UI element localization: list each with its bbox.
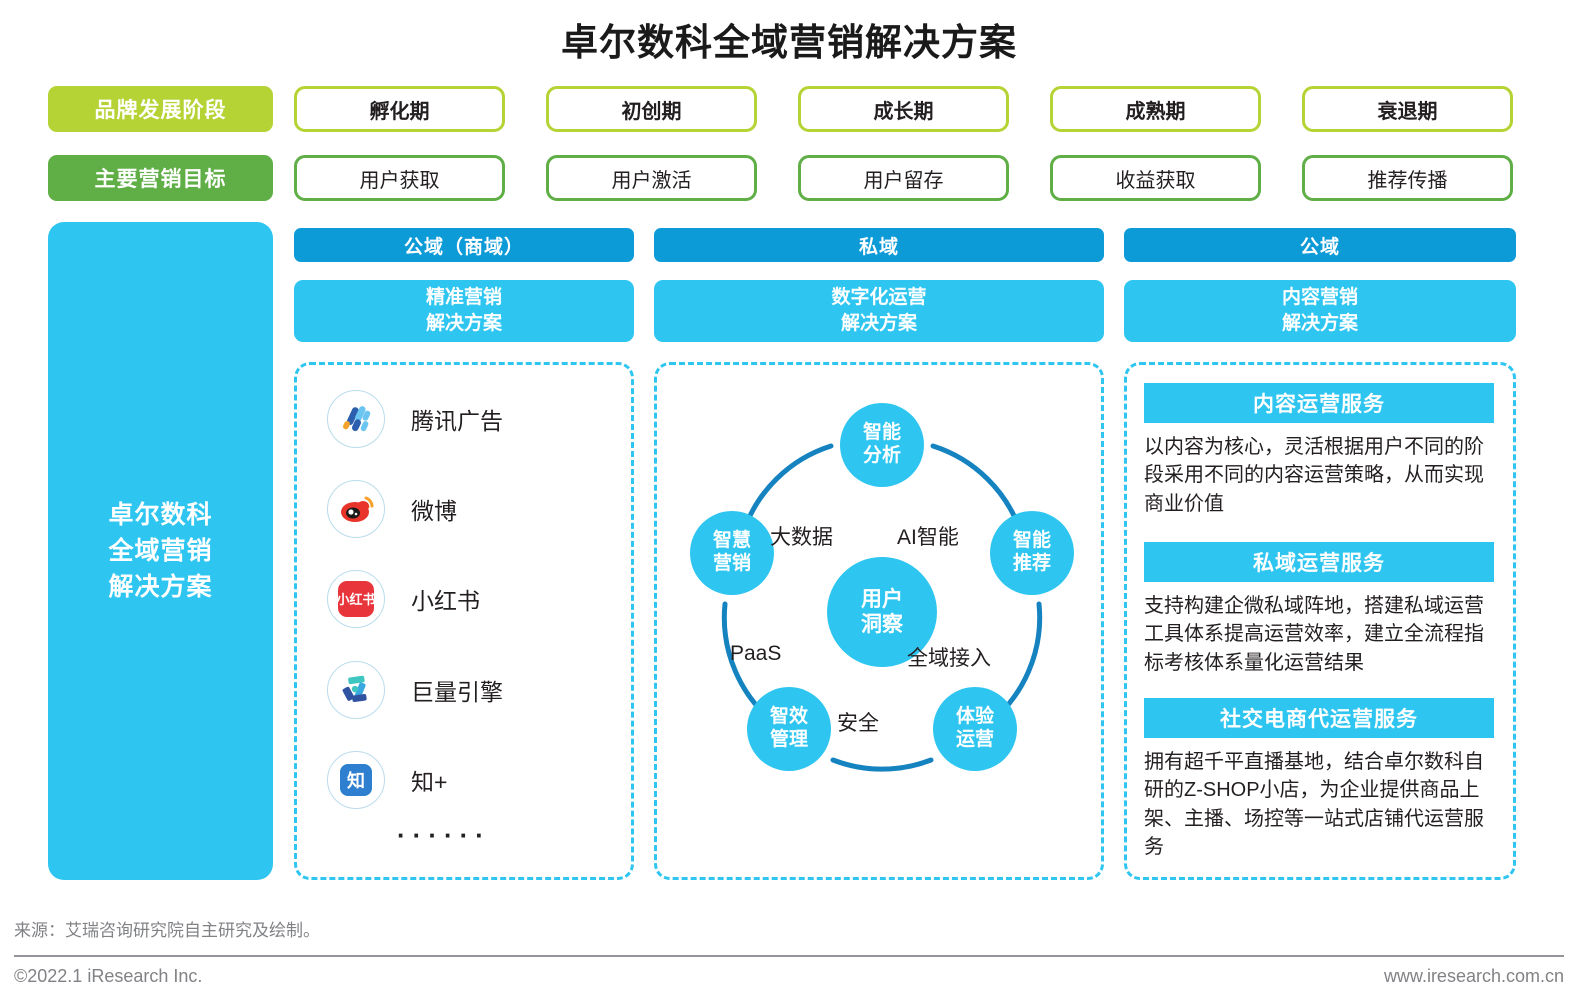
diagram-label-ai: AI智能	[897, 521, 959, 551]
service-body-social-ecommerce-operation: 拥有超千平直播基地，结合卓尔数科自研的Z-SHOP小店，为企业提供商品上架、主播…	[1144, 748, 1502, 862]
column-subtitle-2-line-1: 内容营销	[1282, 285, 1358, 311]
footer-divider	[14, 955, 1564, 957]
platform-list-ellipsis: ······	[397, 820, 491, 851]
goal-cell-4: 推荐传播	[1302, 155, 1513, 201]
capability-diagram-panel: 智能分析 智能推荐 体验运营 智效管理 智慧营销 用户洞察 大数据 AI智能 全…	[654, 362, 1104, 880]
platform-list: 腾讯广告 微博	[297, 365, 631, 877]
goal-cell-1: 用户激活	[546, 155, 757, 201]
column-subtitle-1-line-1: 数字化运营	[831, 285, 926, 311]
brand-panel-line-3: 解决方案	[108, 569, 212, 605]
infographic-page: 卓尔数科全域营销解决方案 品牌发展阶段 主要营销目标 孵化期 初创期 成长期 成…	[0, 0, 1578, 1002]
platform-name: 知+	[411, 763, 447, 797]
platform-list-panel: 腾讯广告 微博	[294, 362, 634, 880]
diagram-node-experience-operation: 体验运营	[933, 687, 1017, 771]
column-subtitle-content-marketing: 内容营销 解决方案	[1124, 280, 1516, 342]
list-item[interactable]: 微博	[327, 480, 457, 538]
diagram-node-smart-marketing: 智慧营销	[690, 511, 774, 595]
goal-cell-2: 用户留存	[798, 155, 1009, 201]
stage-cell-0: 孵化期	[294, 86, 505, 132]
svg-text:知: 知	[347, 770, 365, 792]
brand-panel-line-1: 卓尔数科	[108, 497, 212, 533]
stage-cell-2: 成长期	[798, 86, 1009, 132]
column-header-public-domain-2: 公域	[1124, 228, 1516, 262]
column-subtitle-precision-marketing: 精准营销 解决方案	[294, 280, 634, 342]
platform-name: 腾讯广告	[411, 402, 503, 436]
tencent-ads-icon	[327, 390, 385, 448]
diagram-node-intelligent-analysis: 智能分析	[840, 403, 924, 487]
list-item[interactable]: 小红书 小红书	[327, 570, 480, 628]
service-body-private-domain-operation: 支持构建企微私域阵地，搭建私域运营工具体系提高运营效率，建立全流程指标考核体系量…	[1144, 592, 1502, 677]
goal-cell-0: 用户获取	[294, 155, 505, 201]
platform-name: 微博	[411, 492, 457, 526]
service-title-social-ecommerce-operation: 社交电商代运营服务	[1144, 698, 1494, 738]
brand-solution-panel: 卓尔数科 全域营销 解决方案	[48, 222, 273, 880]
platform-name: 巨量引擎	[411, 673, 503, 707]
source-note: 来源：艾瑞咨询研究院自主研究及绘制。	[14, 916, 320, 941]
stage-cell-3: 成熟期	[1050, 86, 1261, 132]
service-body-content-operation: 以内容为核心，灵活根据用户不同的阶段采用不同的内容运营策略，从而实现商业价值	[1144, 433, 1502, 518]
copyright: ©2022.1 iResearch Inc.	[14, 966, 202, 987]
column-subtitle-2-line-2: 解决方案	[1282, 311, 1358, 337]
page-title: 卓尔数科全域营销解决方案	[0, 12, 1578, 66]
capability-diagram: 智能分析 智能推荐 体验运营 智效管理 智慧营销 用户洞察 大数据 AI智能 全…	[657, 365, 1101, 877]
diagram-label-security: 安全	[837, 707, 879, 737]
stage-cell-1: 初创期	[546, 86, 757, 132]
column-subtitle-1-line-2: 解决方案	[831, 311, 926, 337]
xiaohongshu-icon: 小红书	[327, 570, 385, 628]
zhihu-plus-icon: 知	[327, 751, 385, 809]
website-url: www.iresearch.com.cn	[1384, 966, 1564, 987]
service-title-content-operation: 内容运营服务	[1144, 383, 1494, 423]
column-subtitle-digital-operation: 数字化运营 解决方案	[654, 280, 1104, 342]
stage-cell-4: 衰退期	[1302, 86, 1513, 132]
service-title-private-domain-operation: 私域运营服务	[1144, 542, 1494, 582]
row-label-marketing-goal: 主要营销目标	[48, 155, 273, 201]
column-header-private-domain: 私域	[654, 228, 1104, 262]
diagram-label-omni-access: 全域接入	[907, 642, 991, 672]
goal-cell-3: 收益获取	[1050, 155, 1261, 201]
diagram-label-big-data: 大数据	[770, 521, 833, 551]
list-item[interactable]: 腾讯广告	[327, 390, 503, 448]
list-item[interactable]: 巨量引擎	[327, 661, 503, 719]
oceanengine-icon	[327, 661, 385, 719]
diagram-node-efficiency-management: 智效管理	[747, 687, 831, 771]
column-subtitle-0-line-2: 解决方案	[426, 311, 502, 337]
row-label-brand-stage: 品牌发展阶段	[48, 86, 273, 132]
column-header-public-domain: 公域（商域）	[294, 228, 634, 262]
svg-text:小红书: 小红书	[336, 592, 375, 608]
column-subtitle-0-line-1: 精准营销	[426, 285, 502, 311]
platform-name: 小红书	[411, 582, 480, 616]
list-item[interactable]: 知 知+	[327, 751, 447, 809]
diagram-label-paas: PaaS	[730, 642, 781, 666]
diagram-node-intelligent-recommendation: 智能推荐	[990, 511, 1074, 595]
weibo-icon	[327, 480, 385, 538]
brand-panel-line-2: 全域营销	[108, 533, 212, 569]
service-list-panel: 内容运营服务 以内容为核心，灵活根据用户不同的阶段采用不同的内容运营策略，从而实…	[1124, 362, 1516, 880]
